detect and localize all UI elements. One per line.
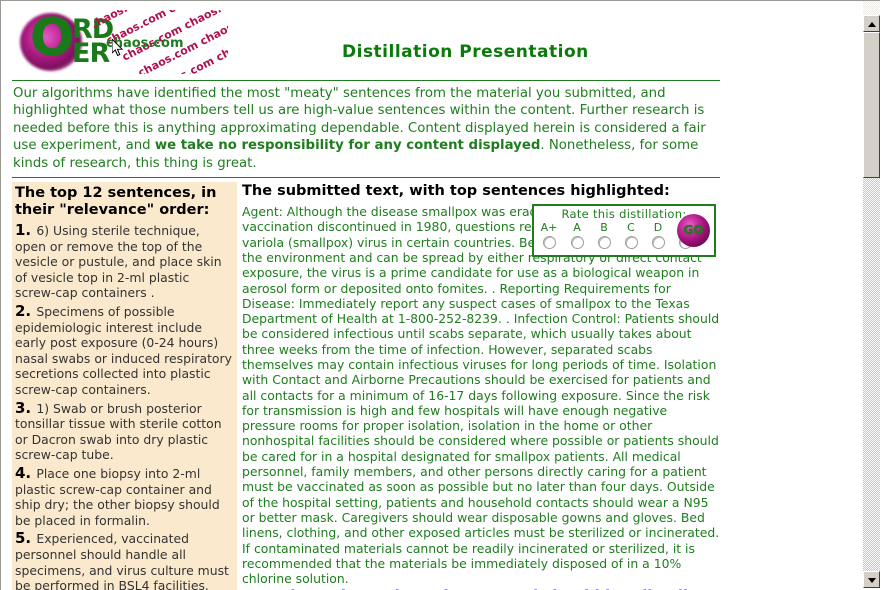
rating-radio-button[interactable] (598, 236, 611, 249)
rating-widget[interactable]: Rate this distillation: A+ABCDF GO (532, 204, 716, 257)
mouse-cursor-icon (112, 39, 124, 58)
top-sentences-heading: The top 12 sentences, in their "relevanc… (15, 185, 233, 219)
scrollbar-thumb[interactable] (863, 32, 880, 178)
rating-radio-button[interactable] (652, 236, 665, 249)
top-sentence-item: 5. Experienced, vaccinated personnel sho… (15, 531, 233, 590)
rating-option-aplus[interactable]: A+ (538, 222, 560, 249)
top-sentence-item: 3. 1) Swab or brush posterior tonsillar … (15, 401, 233, 463)
rating-radio-button[interactable] (571, 236, 584, 249)
rating-go-button[interactable]: GO (677, 214, 710, 247)
top-sentences-list: 1. 6) Using sterile technique, open or r… (15, 223, 233, 590)
intro-section: Our algorithms have identified the most … (2, 85, 868, 177)
browser-window: O RD ER chaos.com chaos.com chaos.com ch… (0, 0, 895, 590)
rating-option-a[interactable]: A (566, 222, 588, 249)
rating-grade-label: A+ (538, 222, 560, 234)
logo-letter-o: O (30, 12, 74, 64)
top-sentence-rank: 5. (15, 529, 36, 547)
submitted-text-panel: The submitted text, with top sentences h… (242, 182, 720, 590)
rating-radio-button[interactable] (625, 236, 638, 249)
rating-option-d[interactable]: D (647, 222, 669, 249)
top-sentence-rank: 1. (15, 221, 36, 239)
intro-paragraph: Our algorithms have identified the most … (13, 85, 720, 172)
chevron-down-icon (868, 578, 876, 583)
top-sentence-item: 4. Place one biopsy into 2-ml plastic sc… (15, 466, 233, 528)
top-sentence-text: Specimens of possible epidemiologic inte… (15, 304, 232, 397)
rating-grade-label: A (566, 222, 588, 234)
window-frame: O RD ER chaos.com chaos.com chaos.com ch… (0, 0, 880, 590)
top-sentence-rank: 4. (15, 464, 36, 482)
scrollbar-track-below[interactable] (863, 178, 880, 571)
page-header: O RD ER chaos.com chaos.com chaos.com ch… (2, 2, 868, 80)
submitted-text-body: Agent: Although the disease smallpox was… (242, 204, 720, 590)
top-sentence-rank: 2. (15, 302, 36, 320)
top-sentence-text: 6) Using sterile technique, open or remo… (15, 223, 222, 300)
rating-grade-label: C (620, 222, 642, 234)
rating-grade-label: B (593, 222, 615, 234)
top-sentence-rank: 3. (15, 399, 36, 417)
chevron-up-icon (868, 22, 876, 27)
submitted-text-heading: The submitted text, with top sentences h… (242, 183, 720, 200)
rating-option-b[interactable]: B (593, 222, 615, 249)
top-sentence-item: 2. Specimens of possible epidemiologic i… (15, 304, 233, 398)
top-sentence-text: Place one biopsy into 2-ml plastic screw… (15, 466, 220, 528)
scroll-down-button[interactable] (863, 571, 880, 588)
rating-radio-button[interactable] (543, 236, 556, 249)
body-text-run: Agent: Although the disease smallpox was… (242, 204, 719, 586)
intro-bold-disclaimer: we take no responsibility for any conten… (155, 138, 541, 153)
page-content: O RD ER chaos.com chaos.com chaos.com ch… (2, 2, 868, 590)
page-title: Distillation Presentation (342, 42, 589, 62)
divider-top (12, 80, 720, 81)
scroll-up-button[interactable] (863, 15, 880, 32)
top-sentence-text: Experienced, vaccinated personnel should… (15, 531, 229, 590)
top-sentence-item: 1. 6) Using sterile technique, open or r… (15, 223, 233, 301)
divider-middle (12, 177, 720, 178)
rating-option-c[interactable]: C (620, 222, 642, 249)
top-sentences-panel: The top 12 sentences, in their "relevanc… (12, 182, 237, 590)
vertical-scrollbar[interactable] (853, 1, 880, 590)
top-sentence-text: 1) Swab or brush posterior tonsillar tis… (15, 401, 222, 463)
rating-grade-label: D (647, 222, 669, 234)
